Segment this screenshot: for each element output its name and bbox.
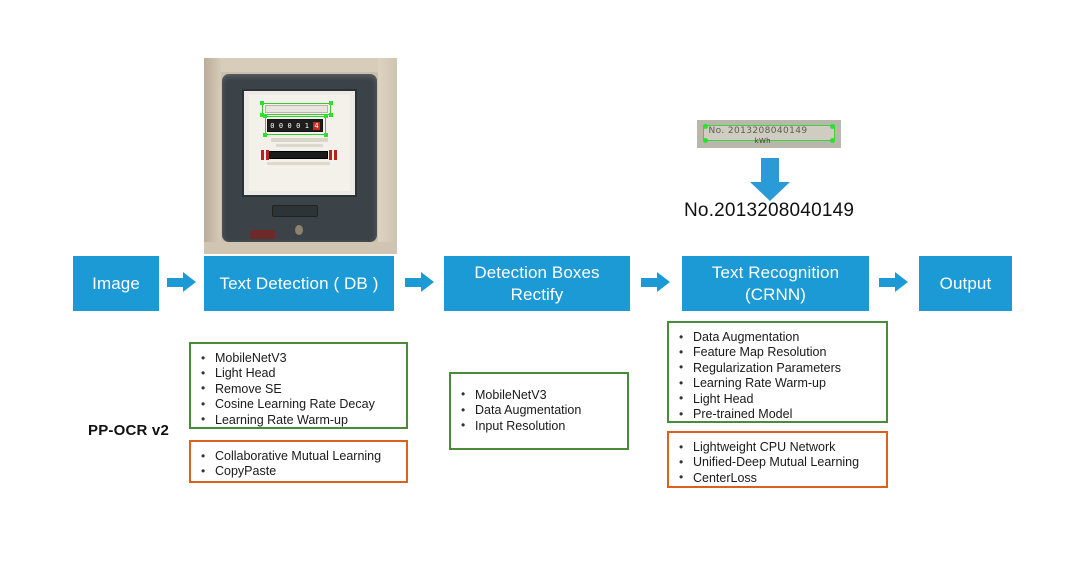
list-item: Light Head (199, 366, 396, 381)
list-item: CenterLoss (677, 471, 876, 486)
crop-corner-dot-tl (703, 124, 708, 129)
pipeline-label-image: Image (92, 274, 140, 293)
detail-box-recognition-orange: Lightweight CPU Network Unified-Deep Mut… (667, 431, 888, 488)
meter-face: 000014 (249, 95, 350, 191)
meter-model-text (271, 138, 328, 142)
detected-text-crop: No. 2013208040149 kWh (697, 120, 841, 148)
list-item: CopyPaste (199, 464, 396, 479)
crop-corner-dot-bl (703, 138, 708, 143)
crop-corner-dot-tr (830, 124, 835, 129)
framework-label: PP-OCR v2 (88, 422, 169, 439)
crop-detected-text: No. 2013208040149 (709, 126, 808, 136)
list-item: Pre-trained Model (677, 407, 876, 422)
pipeline-box-text-recognition[interactable]: Text Recognition (CRNN) (682, 256, 869, 311)
list-item: Lightweight CPU Network (677, 440, 876, 455)
pipeline-label-text-detection: Text Detection ( DB ) (220, 274, 379, 293)
list-item: MobileNetV3 (459, 388, 581, 403)
meter-wire (250, 230, 275, 238)
arrow-image-to-detection-icon (167, 272, 198, 293)
list-item: Learning Rate Warm-up (677, 376, 876, 391)
pipeline-label-rectify-line1: Detection Boxes (474, 263, 599, 282)
detail-list-detection-green: MobileNetV3 Light Head Remove SE Cosine … (199, 351, 396, 428)
pipeline-label-rectify-line2: Rectify (474, 284, 599, 305)
list-item: Learning Rate Warm-up (199, 413, 396, 428)
meter-spec-text (276, 144, 323, 147)
list-item: Data Augmentation (677, 330, 876, 345)
list-item: Regularization Parameters (677, 361, 876, 376)
meter-case: 000014 (222, 74, 376, 243)
detail-list-recognition-green: Data Augmentation Feature Map Resolution… (677, 330, 876, 422)
ocr-result-text: No.2013208040149 (684, 200, 854, 222)
meter-dial (269, 151, 328, 159)
detail-box-detection-orange: Collaborative Mutual Learning CopyPaste (189, 440, 408, 483)
input-meter-photo: 000014 (204, 58, 397, 254)
photo-wall-right (378, 58, 397, 254)
meter-footer-text (267, 162, 330, 165)
arrow-recognition-to-output-icon (879, 272, 910, 293)
pipeline-label-recognition-line2: (CRNN) (712, 284, 839, 305)
list-item: MobileNetV3 (199, 351, 396, 366)
pipeline-box-image[interactable]: Image (73, 256, 159, 311)
pipeline-box-output[interactable]: Output (919, 256, 1012, 311)
list-item: Input Resolution (459, 419, 581, 434)
photo-wall-top (204, 58, 397, 72)
meter-terminal-plate (272, 205, 318, 217)
list-item: Data Augmentation (459, 403, 581, 418)
pipeline-box-detection-boxes-rectify[interactable]: Detection Boxes Rectify (444, 256, 630, 311)
list-item: Cosine Learning Rate Decay (199, 397, 396, 412)
arrow-detection-to-rectify-icon (405, 272, 436, 293)
detection-box-serial (262, 103, 331, 115)
photo-wall-bottom (204, 242, 397, 254)
pipeline-box-text-detection[interactable]: Text Detection ( DB ) (204, 256, 394, 311)
list-item: Collaborative Mutual Learning (199, 449, 396, 464)
detail-box-recognition-green: Data Augmentation Feature Map Resolution… (667, 321, 888, 423)
crop-corner-dot-br (830, 138, 835, 143)
detail-list-recognition-orange: Lightweight CPU Network Unified-Deep Mut… (677, 440, 876, 486)
meter-screw (295, 225, 303, 235)
detail-box-detection-green: MobileNetV3 Light Head Remove SE Cosine … (189, 342, 408, 429)
list-item: Light Head (677, 392, 876, 407)
meter-window: 000014 (242, 89, 356, 197)
detail-list-rectify-green: MobileNetV3 Data Augmentation Input Reso… (459, 388, 581, 434)
detail-box-rectify-green: MobileNetV3 Data Augmentation Input Reso… (449, 372, 629, 450)
down-arrow-icon (750, 158, 790, 200)
pipeline-label-output: Output (940, 274, 992, 293)
meter-chevron-right (329, 150, 338, 160)
meter-odometer: 000014 (267, 119, 323, 132)
pipeline-label-recognition-line1: Text Recognition (712, 263, 839, 282)
detail-list-detection-orange: Collaborative Mutual Learning CopyPaste (199, 449, 396, 480)
crop-sub-text: kWh (755, 137, 771, 145)
photo-wall-left (204, 58, 221, 254)
list-item: Remove SE (199, 382, 396, 397)
list-item: Unified-Deep Mutual Learning (677, 455, 876, 470)
list-item: Feature Map Resolution (677, 345, 876, 360)
diagram-canvas: 000014 No. 2013208040149 kWh (0, 0, 1080, 570)
arrow-rectify-to-recognition-icon (641, 272, 672, 293)
